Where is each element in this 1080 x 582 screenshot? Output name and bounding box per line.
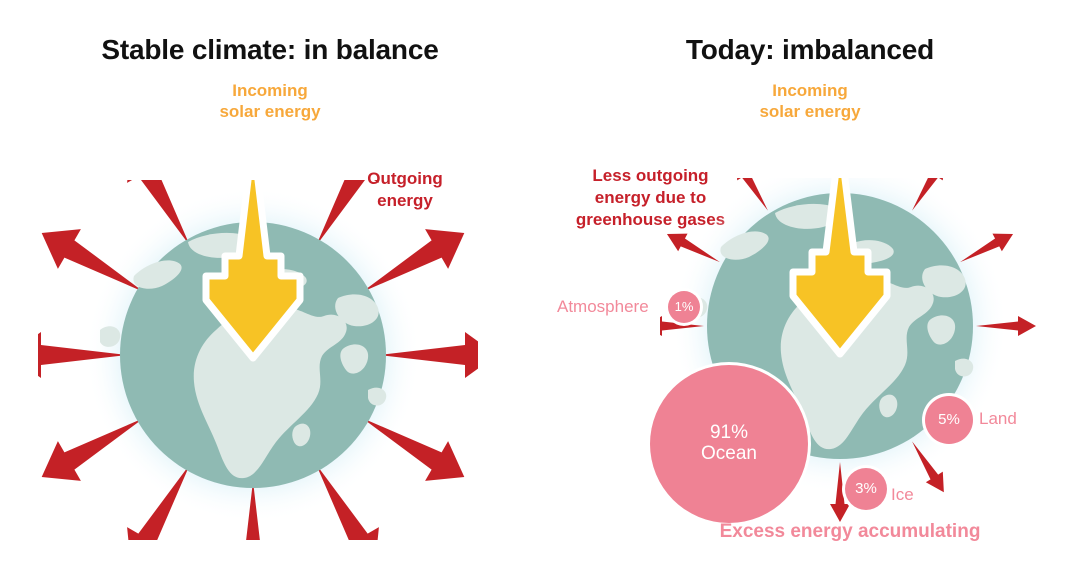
land-label: Land	[979, 409, 1017, 429]
diagram-canvas: Stable climate: in balance Incoming sola…	[0, 0, 1080, 582]
globe-svg-left	[38, 180, 478, 540]
excess-energy-accumulating-label: Excess energy accumulating	[640, 521, 1060, 543]
ocean-label: Ocean	[701, 444, 757, 465]
bubble-atmosphere[interactable]: 1%	[668, 291, 700, 323]
ice-label: Ice	[891, 485, 914, 505]
globe-graphic-left	[38, 180, 478, 540]
incoming-solar-line1: Incoming	[120, 80, 420, 101]
bubble-ice[interactable]: 3%	[845, 468, 887, 510]
panel-title-right: Today: imbalanced	[540, 34, 1080, 66]
panel-title-left: Stable climate: in balance	[0, 34, 540, 66]
incoming-solar-line1: Incoming	[660, 80, 960, 101]
panel-today-imbalanced: Today: imbalanced Incoming solar energy …	[540, 0, 1080, 582]
incoming-solar-line2: solar energy	[120, 101, 420, 122]
incoming-solar-label-right: Incoming solar energy	[660, 80, 960, 123]
bubble-ocean[interactable]: 91% Ocean	[650, 365, 808, 523]
incoming-solar-label-left: Incoming solar energy	[120, 80, 420, 123]
atmosphere-percent: 1%	[675, 300, 694, 314]
bubble-land[interactable]: 5%	[925, 396, 973, 444]
incoming-solar-line2: solar energy	[660, 101, 960, 122]
ocean-percent: 91%	[710, 423, 748, 444]
ice-percent: 3%	[855, 481, 877, 498]
land-percent: 5%	[938, 412, 960, 429]
atmosphere-label: Atmosphere	[557, 297, 649, 317]
panel-stable-climate: Stable climate: in balance Incoming sola…	[0, 0, 540, 582]
